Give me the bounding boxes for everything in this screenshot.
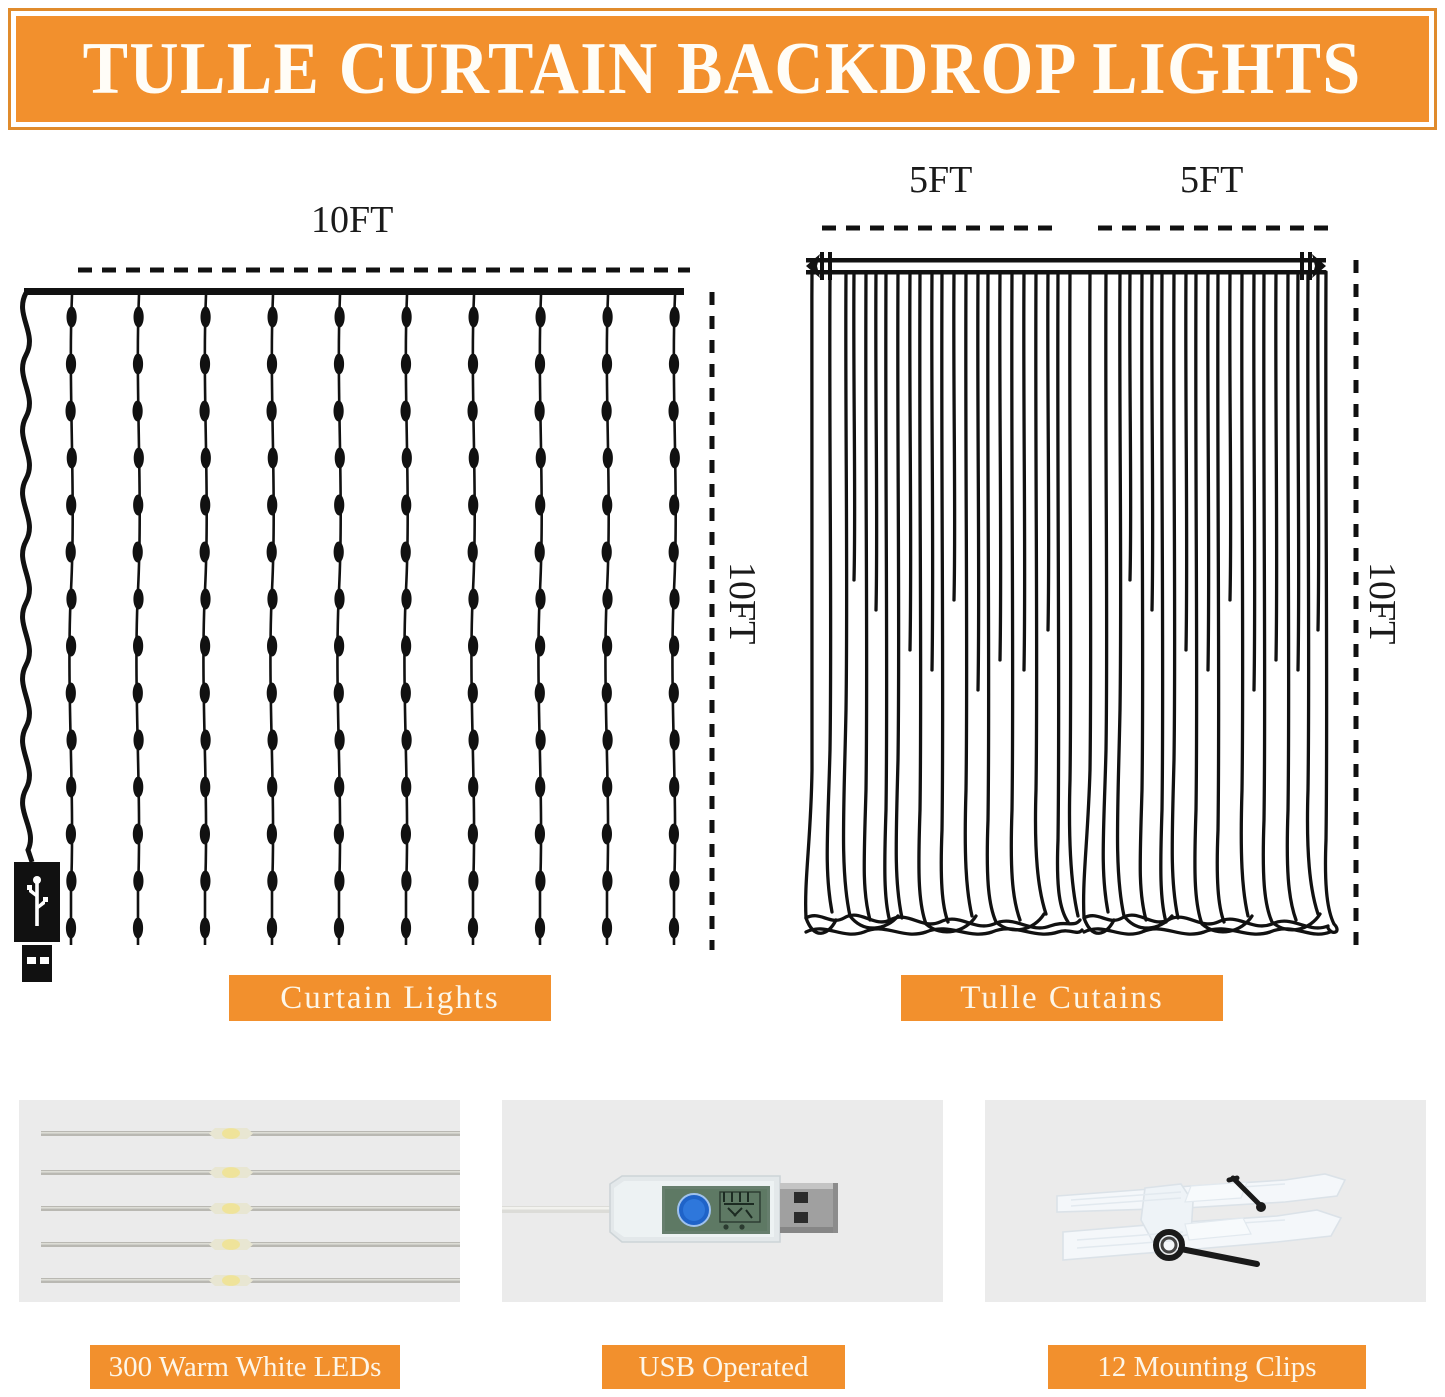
feature-caption-usb: USB Operated [602,1345,845,1389]
led-strand [669,295,679,945]
tulle-panel-left [806,272,1082,934]
feature-leds [19,1100,460,1302]
tulle-curtains-caption: Tulle Cutains [901,975,1223,1021]
mounting-clip-photo [985,1100,1426,1302]
left-height-dimension-label: 10FT [720,562,764,644]
led-strands [66,295,679,945]
feature-usb [502,1100,943,1302]
right-width-dimension-label-right: 5FT [1180,158,1243,202]
tulle-panel-right [1084,272,1337,934]
led-strand [200,295,210,945]
led-strand [602,295,612,945]
copper-wire-led-strands-photo [19,1100,460,1302]
led-strand [401,295,411,945]
usb-controller-photo [502,1100,943,1302]
light-header-bar [24,288,684,295]
wavy-cord [23,293,32,862]
right-height-dimension-label: 10FT [1360,562,1404,644]
right-width-dimension-label-left: 5FT [909,158,972,202]
led-strand [66,295,76,945]
left-width-dimension-label: 10FT [311,198,393,242]
led-strand [267,295,277,945]
page-title: TULLE CURTAIN BACKDROP LIGHTS [83,32,1362,106]
tulle-curtains-diagram [790,150,1445,1030]
led-strand [535,295,545,945]
usb-plug-icon [14,862,60,982]
led-strand [334,295,344,945]
curtain-rod [806,252,1326,280]
led-strand [133,295,143,945]
feature-clips [985,1100,1426,1302]
header-banner: TULLE CURTAIN BACKDROP LIGHTS [8,8,1437,130]
header-banner-fill: TULLE CURTAIN BACKDROP LIGHTS [16,16,1429,122]
curtain-lights-caption: Curtain Lights [229,975,551,1021]
feature-caption-leds: 300 Warm White LEDs [90,1345,400,1389]
diagram-section: 10FT 10FT 5FT 5FT 10FT [0,150,1445,1050]
curtain-lights-diagram [0,150,780,1030]
feature-caption-clips: 12 Mounting Clips [1048,1345,1366,1389]
led-strand [468,295,478,945]
